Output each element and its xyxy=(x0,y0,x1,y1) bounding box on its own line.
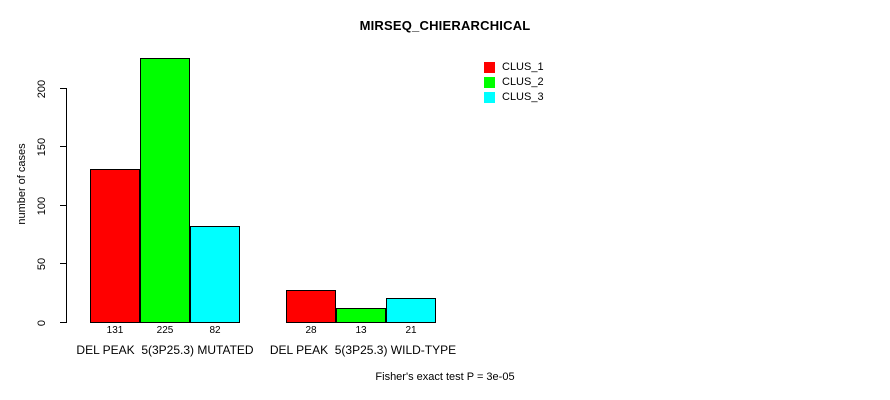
legend-label-clus3: CLUS_3 xyxy=(502,92,544,103)
legend: CLUS_1 CLUS_2 CLUS_3 xyxy=(484,60,544,105)
legend-swatch-icon-clus2 xyxy=(484,77,495,88)
bar-g2-clus3 xyxy=(386,298,436,323)
group-label-wild-type: DEL PEAK 5(3P25.3) WILD-TYPE xyxy=(258,343,468,357)
y-tick-50 xyxy=(60,263,66,264)
y-tick-100 xyxy=(60,205,66,206)
statistical-annotation: Fisher's exact test P = 3e-05 xyxy=(0,371,890,383)
legend-item-clus2: CLUS_2 xyxy=(484,75,544,90)
legend-label-clus1: CLUS_1 xyxy=(502,62,544,73)
bar-g2-clus2 xyxy=(336,308,386,323)
y-axis-title: number of cases xyxy=(16,134,28,234)
y-tick-label-50: 50 xyxy=(36,244,48,284)
page-title: MIRSEQ_CHIERARCHICAL xyxy=(0,18,890,33)
legend-item-clus3: CLUS_3 xyxy=(484,90,544,105)
bar-g2-clus1 xyxy=(286,290,336,323)
legend-swatch-icon-clus1 xyxy=(484,62,495,73)
y-axis-line xyxy=(66,88,67,323)
y-tick-label-200: 200 xyxy=(36,69,48,109)
y-tick-150 xyxy=(60,146,66,147)
legend-item-clus1: CLUS_1 xyxy=(484,60,544,75)
group-label-mutated: DEL PEAK 5(3P25.3) MUTATED xyxy=(65,343,265,357)
y-tick-label-100: 100 xyxy=(36,186,48,226)
bar-g1-clus3 xyxy=(190,226,240,323)
legend-swatch-icon-clus3 xyxy=(484,92,495,103)
y-tick-label-150: 150 xyxy=(36,127,48,167)
bar-chart-plot: MIRSEQ_CHIERARCHICAL 0 50 100 150 200 nu… xyxy=(0,0,890,400)
bar-g1-clus1 xyxy=(90,169,140,323)
y-tick-label-0: 0 xyxy=(36,303,48,343)
y-tick-200 xyxy=(60,88,66,89)
bar-count-g2-clus3: 21 xyxy=(381,325,441,336)
bar-count-g1-clus3: 82 xyxy=(185,325,245,336)
bar-g1-clus2 xyxy=(140,58,190,323)
legend-label-clus2: CLUS_2 xyxy=(502,77,544,88)
y-tick-0 xyxy=(60,322,66,323)
